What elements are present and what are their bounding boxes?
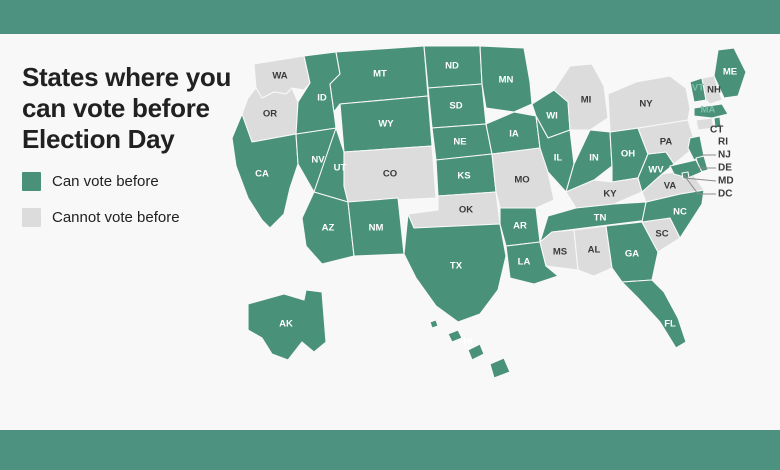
state-label-vt: VT (692, 83, 704, 94)
state-hi[interactable] (430, 320, 510, 378)
top-accent-bar (0, 0, 780, 34)
state-label-ia: IA (509, 129, 519, 140)
state-label-mn: MN (499, 75, 514, 86)
state-label-in: IN (589, 153, 599, 164)
state-label-ga: GA (625, 249, 639, 260)
state-label-va: VA (664, 181, 677, 192)
state-label-oh: OH (621, 149, 635, 160)
state-label-de: DE (718, 163, 732, 174)
state-label-ar: AR (513, 221, 527, 232)
state-label-tx: TX (450, 261, 463, 272)
state-label-la: LA (518, 257, 531, 268)
state-label-mt: MT (373, 69, 387, 80)
legend-panel: States where you can vote before Electio… (22, 62, 237, 227)
state-label-sd: SD (449, 101, 462, 112)
page-title: States where you can vote before Electio… (22, 62, 237, 155)
state-label-il: IL (554, 153, 563, 164)
infographic-frame: States where you can vote before Electio… (0, 0, 780, 470)
state-label-ma: MA (701, 105, 716, 116)
state-label-sc: SC (655, 229, 668, 240)
legend-label-cannot-vote: Cannot vote before (52, 209, 180, 226)
us-map: WAORCANVIDMTWYUTCOAZNMNDSDNEKSOKTXMNIAMO… (218, 42, 780, 422)
state-label-wi: WI (546, 111, 558, 122)
us-map-svg: WAORCANVIDMTWYUTCOAZNMNDSDNEKSOKTXMNIAMO… (218, 42, 780, 422)
state-label-pa: PA (660, 137, 673, 148)
state-label-nv: NV (311, 155, 325, 166)
state-label-or: OR (263, 109, 277, 120)
state-label-nc: NC (673, 207, 687, 218)
state-label-fl: FL (664, 319, 676, 330)
state-label-wa: WA (272, 71, 287, 82)
state-label-ri: RI (718, 137, 728, 148)
state-label-ct: CT (710, 125, 723, 136)
legend-item-cannot-vote: Cannot vote before (22, 208, 237, 227)
state-label-ut: UT (334, 163, 347, 174)
state-label-dc: DC (718, 189, 732, 200)
state-fl[interactable] (622, 280, 686, 348)
infographic-card: States where you can vote before Electio… (0, 34, 780, 430)
state-label-nm: NM (369, 223, 384, 234)
state-label-tn: TN (594, 213, 607, 224)
state-label-ok: OK (459, 205, 473, 216)
state-label-nd: ND (445, 61, 459, 72)
state-label-wv: WV (648, 165, 664, 176)
state-label-md: MD (718, 176, 734, 187)
state-label-mi: MI (581, 95, 592, 106)
legend-label-can-vote: Can vote before (52, 173, 159, 190)
state-label-nh: NH (707, 85, 721, 96)
legend-swatch-cannot-vote (22, 208, 41, 227)
state-label-ca: CA (255, 169, 269, 180)
state-label-me: ME (723, 67, 737, 78)
state-label-ks: KS (457, 171, 470, 182)
state-label-ak: AK (279, 319, 293, 330)
state-label-ne: NE (453, 137, 466, 148)
legend-swatch-can-vote (22, 172, 41, 191)
state-label-hi: HI (463, 337, 473, 348)
state-label-nj: NJ (718, 150, 731, 161)
state-label-az: AZ (322, 223, 335, 234)
state-label-al: AL (588, 245, 601, 256)
state-label-ny: NY (639, 99, 653, 110)
state-label-wy: WY (378, 119, 394, 130)
state-label-id: ID (317, 93, 327, 104)
state-label-mo: MO (514, 175, 529, 186)
bottom-accent-bar (0, 430, 780, 470)
state-label-ky: KY (603, 189, 617, 200)
state-label-ms: MS (553, 247, 567, 258)
state-label-co: CO (383, 169, 397, 180)
legend-item-can-vote: Can vote before (22, 172, 237, 191)
